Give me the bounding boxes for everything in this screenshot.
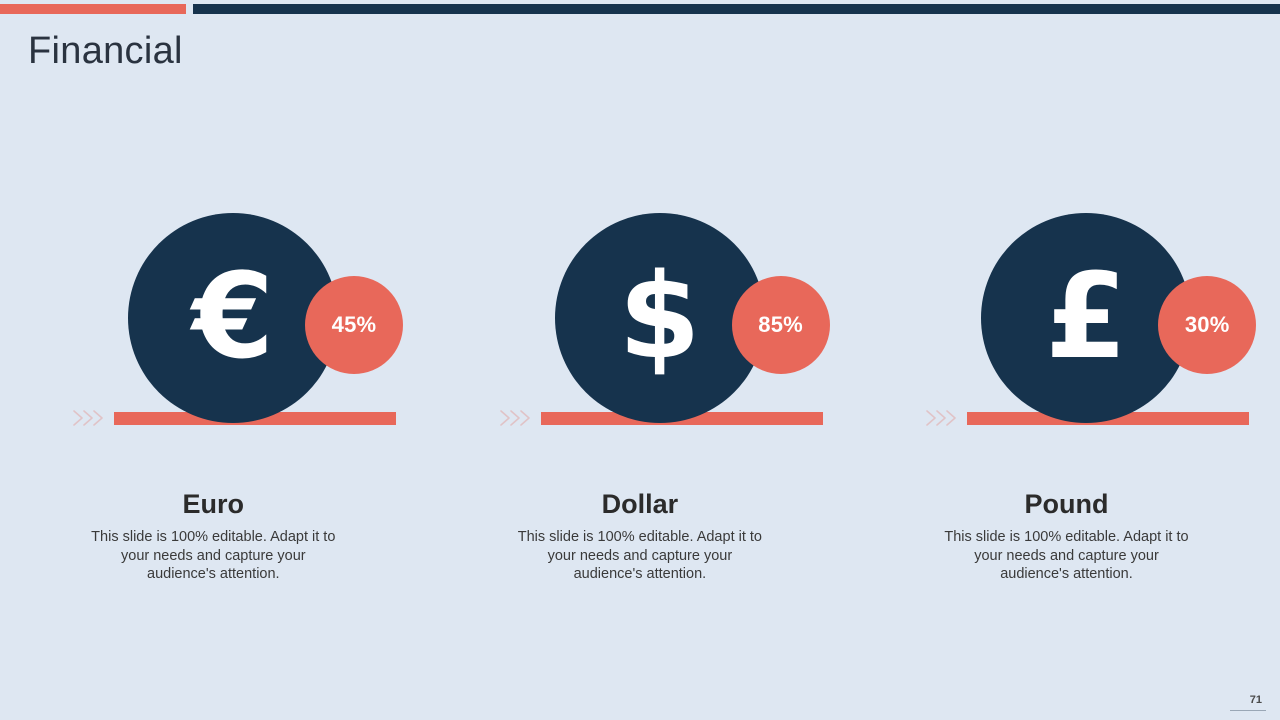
percentage-label: 45% <box>332 312 377 338</box>
currency-graphic: $ 85% <box>427 190 854 440</box>
currency-card-dollar[interactable]: $ 85% Dollar This slide is 100% editable… <box>427 190 854 440</box>
percentage-badge: 85% <box>732 276 830 374</box>
pound-sign-icon: £ <box>1045 257 1127 375</box>
top-accent-bar-coral <box>0 4 186 14</box>
currency-graphic: £ 30% <box>853 190 1280 440</box>
card-description: This slide is 100% editable. Adapt it to… <box>944 528 1189 584</box>
percentage-badge: 30% <box>1158 276 1256 374</box>
page-title: Financial <box>28 28 183 74</box>
currency-card-pound[interactable]: £ 30% Pound This slide is 100% editable.… <box>853 190 1280 440</box>
page-number-rule <box>1230 710 1266 711</box>
percentage-badge: 45% <box>305 276 403 374</box>
chevron-arrows-icon <box>72 407 112 429</box>
top-accent-bar-navy <box>193 4 1280 14</box>
card-heading: Dollar <box>427 488 854 520</box>
currency-cards-row: € 45% Euro This slide is 100% editable. … <box>0 190 1280 440</box>
dollar-sign-icon: $ <box>619 257 701 375</box>
chevron-arrows-icon <box>925 407 965 429</box>
card-heading: Pound <box>853 488 1280 520</box>
card-description: This slide is 100% editable. Adapt it to… <box>517 528 762 584</box>
page-number: 71 <box>1250 694 1262 706</box>
euro-sign-icon: € <box>192 257 274 375</box>
card-description: This slide is 100% editable. Adapt it to… <box>91 528 336 584</box>
chevron-arrows-icon <box>499 407 539 429</box>
percentage-label: 85% <box>758 312 803 338</box>
card-heading: Euro <box>0 488 427 520</box>
percentage-label: 30% <box>1185 312 1230 338</box>
currency-graphic: € 45% <box>0 190 427 440</box>
currency-card-euro[interactable]: € 45% Euro This slide is 100% editable. … <box>0 190 427 440</box>
